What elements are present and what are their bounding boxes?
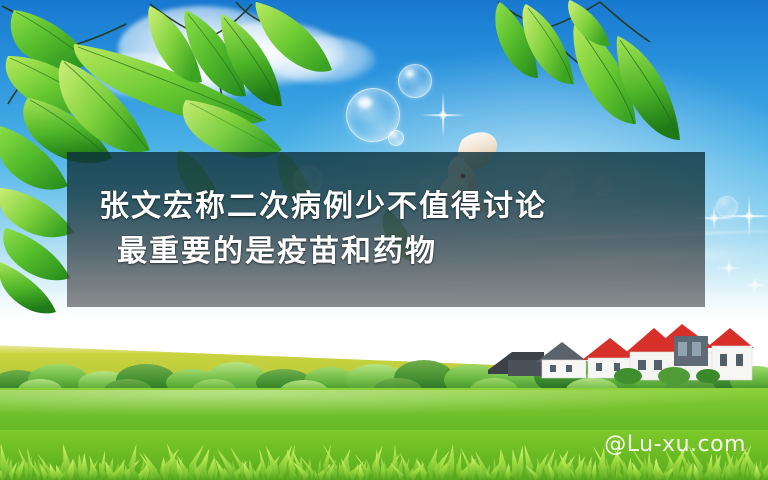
soap-bubble-small: [388, 130, 404, 146]
soap-bubble-medium: [398, 64, 432, 98]
lawn-sheen: [0, 390, 768, 416]
caption-line-2: 最重要的是疫苗和药物: [95, 229, 677, 274]
caption-text-block: 张文宏称二次病例少不值得讨论 最重要的是疫苗和药物: [67, 152, 705, 307]
houses-cluster: [478, 318, 768, 398]
banner-image: 张文宏称二次病例少不值得讨论 最重要的是疫苗和药物: [0, 0, 768, 480]
leaf-18: [617, 36, 680, 140]
house-white-1: [536, 342, 588, 378]
soap-bubble-right: [716, 196, 738, 218]
watermark: @Lu-xu.com: [604, 432, 746, 457]
house-shrubs: [614, 367, 720, 385]
caption-line-1: 张文宏称二次病例少不值得讨论: [95, 184, 677, 229]
house-dark-roof: [488, 352, 544, 376]
